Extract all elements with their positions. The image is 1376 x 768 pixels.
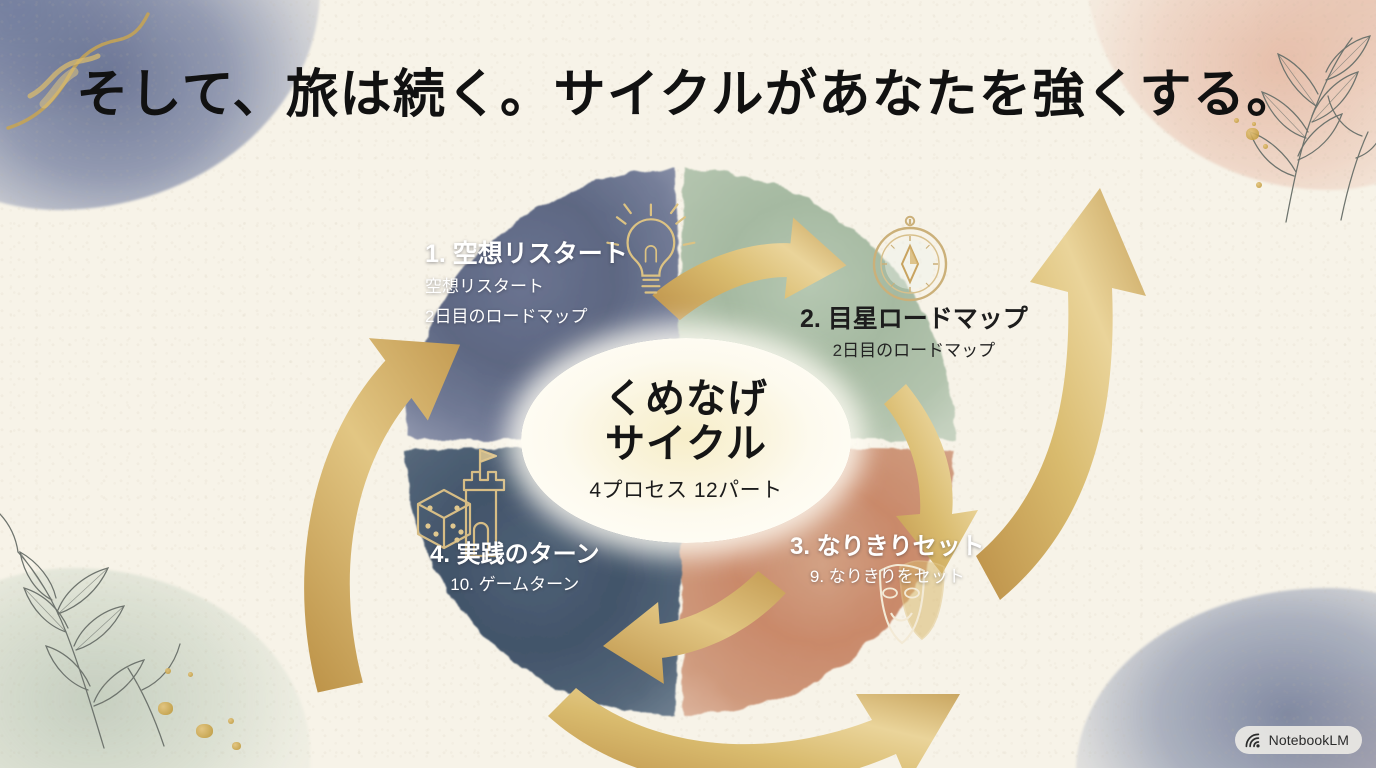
gold-speck (188, 672, 193, 677)
notebooklm-icon (1245, 733, 1262, 748)
notebooklm-label: NotebookLM (1269, 732, 1349, 748)
gold-speck (232, 742, 241, 750)
page-title: そして、旅は続く。サイクルがあなたを強くする。 (0, 52, 1376, 127)
watercolor-wash-bottom-left (0, 568, 310, 768)
gold-speck (165, 668, 171, 674)
gold-speck (196, 724, 213, 738)
outer-arrow-up-right (976, 188, 1146, 600)
botanical-line-art-bottom-left (0, 500, 238, 750)
hub-subtitle: 4プロセス 12パート (589, 474, 782, 504)
notebooklm-watermark: NotebookLM (1235, 726, 1362, 754)
gold-speck (1246, 128, 1259, 140)
hub-title: くめなげ サイクル (604, 377, 768, 467)
slide-root: そして、旅は続く。サイクルがあなたを強くする。 (0, 0, 1376, 768)
gold-speck (228, 718, 234, 724)
cycle-center-hub[interactable]: くめなげ サイクル 4プロセス 12パート (521, 338, 851, 543)
hub-title-line2: サイクル (604, 422, 768, 467)
gold-speck (1263, 144, 1268, 149)
gold-speck (158, 702, 173, 715)
gold-speck (1256, 182, 1262, 188)
hub-title-line1: くめなげ (604, 377, 768, 422)
